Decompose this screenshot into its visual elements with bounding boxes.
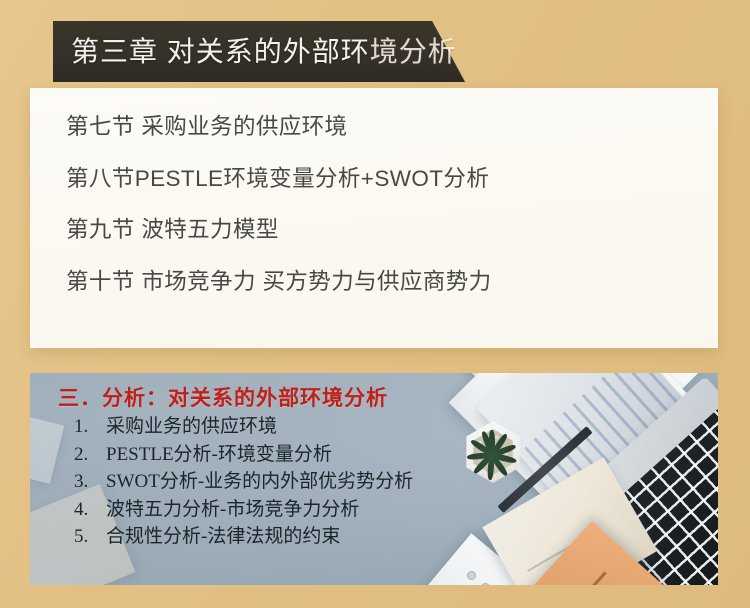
list-item-label: 波特五力分析-市场竞争力分析 bbox=[106, 496, 359, 524]
list-item: 5. 合规性分析-法律法规的约束 bbox=[58, 523, 413, 551]
list-item: 4. 波特五力分析-市场竞争力分析 bbox=[58, 496, 413, 524]
slide-heading: 三．分析：对关系的外部环境分析 bbox=[58, 385, 413, 411]
promo-page: 第三章 对关系的外部环境分析 第七节 采购业务的供应环境 第八节PESTLE环境… bbox=[0, 0, 750, 608]
section-item-9[interactable]: 第九节 波特五力模型 bbox=[66, 219, 698, 242]
slide-text-block: 三．分析：对关系的外部环境分析 1. 采购业务的供应环境 2. PESTLE分析… bbox=[58, 385, 413, 551]
page-title-main: 第三章 对关系的外部环 bbox=[71, 36, 370, 67]
section-item-7[interactable]: 第七节 采购业务的供应环境 bbox=[66, 116, 698, 139]
page-title-overflow: 境分析 bbox=[370, 36, 457, 67]
page-title: 第三章 对关系的外部环境分析 bbox=[71, 21, 457, 82]
binder-ring-icon bbox=[467, 571, 476, 580]
list-item-number: 1. bbox=[58, 413, 106, 441]
list-item: 1. 采购业务的供应环境 bbox=[58, 413, 413, 441]
section-item-10[interactable]: 第十节 市场竞争力 买方势力与供应商势力 bbox=[66, 271, 698, 294]
list-item-number: 2. bbox=[58, 441, 106, 469]
list-item-number: 5. bbox=[58, 523, 106, 551]
slide-item-list: 1. 采购业务的供应环境 2. PESTLE分析-环境变量分析 3. SWOT分… bbox=[58, 413, 413, 551]
list-item: 2. PESTLE分析-环境变量分析 bbox=[58, 441, 413, 469]
list-item-label: 采购业务的供应环境 bbox=[106, 413, 277, 441]
binder-ring-icon bbox=[481, 583, 490, 585]
section-list: 第七节 采购业务的供应环境 第八节PESTLE环境变量分析+SWOT分析 第九节… bbox=[66, 116, 698, 293]
section-item-8[interactable]: 第八节PESTLE环境变量分析+SWOT分析 bbox=[66, 168, 698, 191]
slide-preview-photo[interactable]: 三．分析：对关系的外部环境分析 1. 采购业务的供应环境 2. PESTLE分析… bbox=[30, 373, 718, 585]
list-item-label: SWOT分析-业务的内外部优劣势分析 bbox=[106, 468, 413, 496]
list-item-number: 3. bbox=[58, 468, 106, 496]
list-item: 3. SWOT分析-业务的内外部优劣势分析 bbox=[58, 468, 413, 496]
list-item-label: PESTLE分析-环境变量分析 bbox=[106, 441, 332, 469]
list-item-number: 4. bbox=[58, 496, 106, 524]
section-list-card: 第七节 采购业务的供应环境 第八节PESTLE环境变量分析+SWOT分析 第九节… bbox=[30, 88, 718, 348]
list-item-label: 合规性分析-法律法规的约束 bbox=[106, 523, 340, 551]
